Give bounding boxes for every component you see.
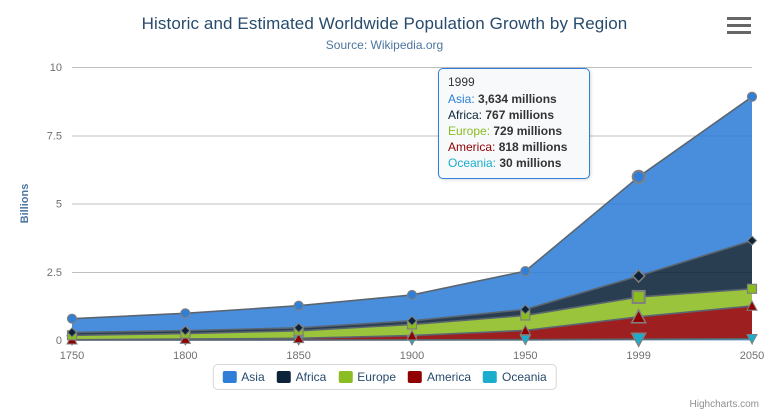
marker-asia[interactable] xyxy=(408,290,417,299)
y-axis-labels: 02.557.510 xyxy=(47,62,62,347)
highcharts-credit[interactable]: Highcharts.com xyxy=(690,399,759,410)
legend-item-africa[interactable]: Africa xyxy=(277,370,327,384)
legend-swatch-icon xyxy=(222,371,236,383)
data-tooltip: 1999 Asia: 3,634 millionsAfrica: 767 mil… xyxy=(438,68,590,179)
tooltip-row: Europe: 729 millions xyxy=(448,123,581,139)
x-axis-tick-label: 1850 xyxy=(286,350,310,362)
marker-asia[interactable] xyxy=(68,314,77,323)
legend-item-europe[interactable]: Europe xyxy=(338,370,396,384)
series-areas xyxy=(72,97,752,340)
tooltip-series-name: Europe: xyxy=(448,124,493,138)
x-axis-labels: 1750180018501900195019992050 xyxy=(60,350,764,362)
tooltip-rows: Asia: 3,634 millionsAfrica: 767 millions… xyxy=(448,91,581,171)
y-axis-tick-label: 10 xyxy=(50,62,62,74)
marker-asia[interactable] xyxy=(521,267,530,276)
x-axis-tick-label: 1750 xyxy=(60,350,84,362)
marker-asia[interactable] xyxy=(633,171,645,183)
marker-asia[interactable] xyxy=(181,309,190,318)
legend-swatch-icon xyxy=(338,371,352,383)
legend-label: Asia xyxy=(241,370,264,384)
plot-area: 02.557.510 Billions 17501800185019001950… xyxy=(0,0,769,416)
tooltip-row: America: 818 millions xyxy=(448,139,581,155)
y-axis-tick-label: 0 xyxy=(56,335,62,347)
y-axis-title-group: Billions xyxy=(19,184,31,224)
y-axis-title: Billions xyxy=(19,184,31,224)
tooltip-row: Oceania: 30 millions xyxy=(448,155,581,171)
legend-item-asia[interactable]: Asia xyxy=(222,370,264,384)
legend-swatch-icon xyxy=(483,371,497,383)
tooltip-series-name: Oceania: xyxy=(448,156,499,170)
tooltip-series-name: Asia: xyxy=(448,92,478,106)
tooltip-series-value: 767 millions xyxy=(485,108,554,122)
tooltip-row: Asia: 3,634 millions xyxy=(448,91,581,107)
tooltip-series-value: 729 millions xyxy=(493,124,562,138)
x-axis-tick-label: 1800 xyxy=(173,350,197,362)
tooltip-series-name: Africa: xyxy=(448,108,485,122)
x-axis-tick-label: 1950 xyxy=(513,350,537,362)
tooltip-series-value: 30 millions xyxy=(499,156,561,170)
legend-label: Europe xyxy=(357,370,396,384)
legend-swatch-icon xyxy=(408,371,422,383)
legend-label: Oceania xyxy=(502,370,547,384)
x-axis-tick-label: 2050 xyxy=(740,350,764,362)
legend-item-oceania[interactable]: Oceania xyxy=(483,370,547,384)
marker-asia[interactable] xyxy=(748,92,757,101)
chart-legend: AsiaAfricaEuropeAmericaOceania xyxy=(212,364,556,390)
tooltip-row: Africa: 767 millions xyxy=(448,107,581,123)
y-axis-tick-label: 2.5 xyxy=(47,267,62,279)
marker-europe[interactable] xyxy=(748,284,757,293)
legend-swatch-icon xyxy=(277,371,291,383)
tooltip-series-value: 818 millions xyxy=(499,140,568,154)
x-axis-tick-label: 1999 xyxy=(626,350,650,362)
x-axis-tick-label: 1900 xyxy=(400,350,424,362)
legend-label: America xyxy=(427,370,471,384)
marker-asia[interactable] xyxy=(294,301,303,310)
tooltip-series-value: 3,634 millions xyxy=(478,92,557,106)
y-axis-tick-label: 7.5 xyxy=(47,130,62,142)
marker-europe[interactable] xyxy=(633,291,645,303)
chart-container: Historic and Estimated Worldwide Populat… xyxy=(0,0,769,416)
legend-item-america[interactable]: America xyxy=(408,370,471,384)
tooltip-series-name: America: xyxy=(448,140,499,154)
tooltip-header: 1999 xyxy=(448,75,581,89)
y-axis-tick-label: 5 xyxy=(56,199,62,211)
legend-label: Africa xyxy=(296,370,327,384)
